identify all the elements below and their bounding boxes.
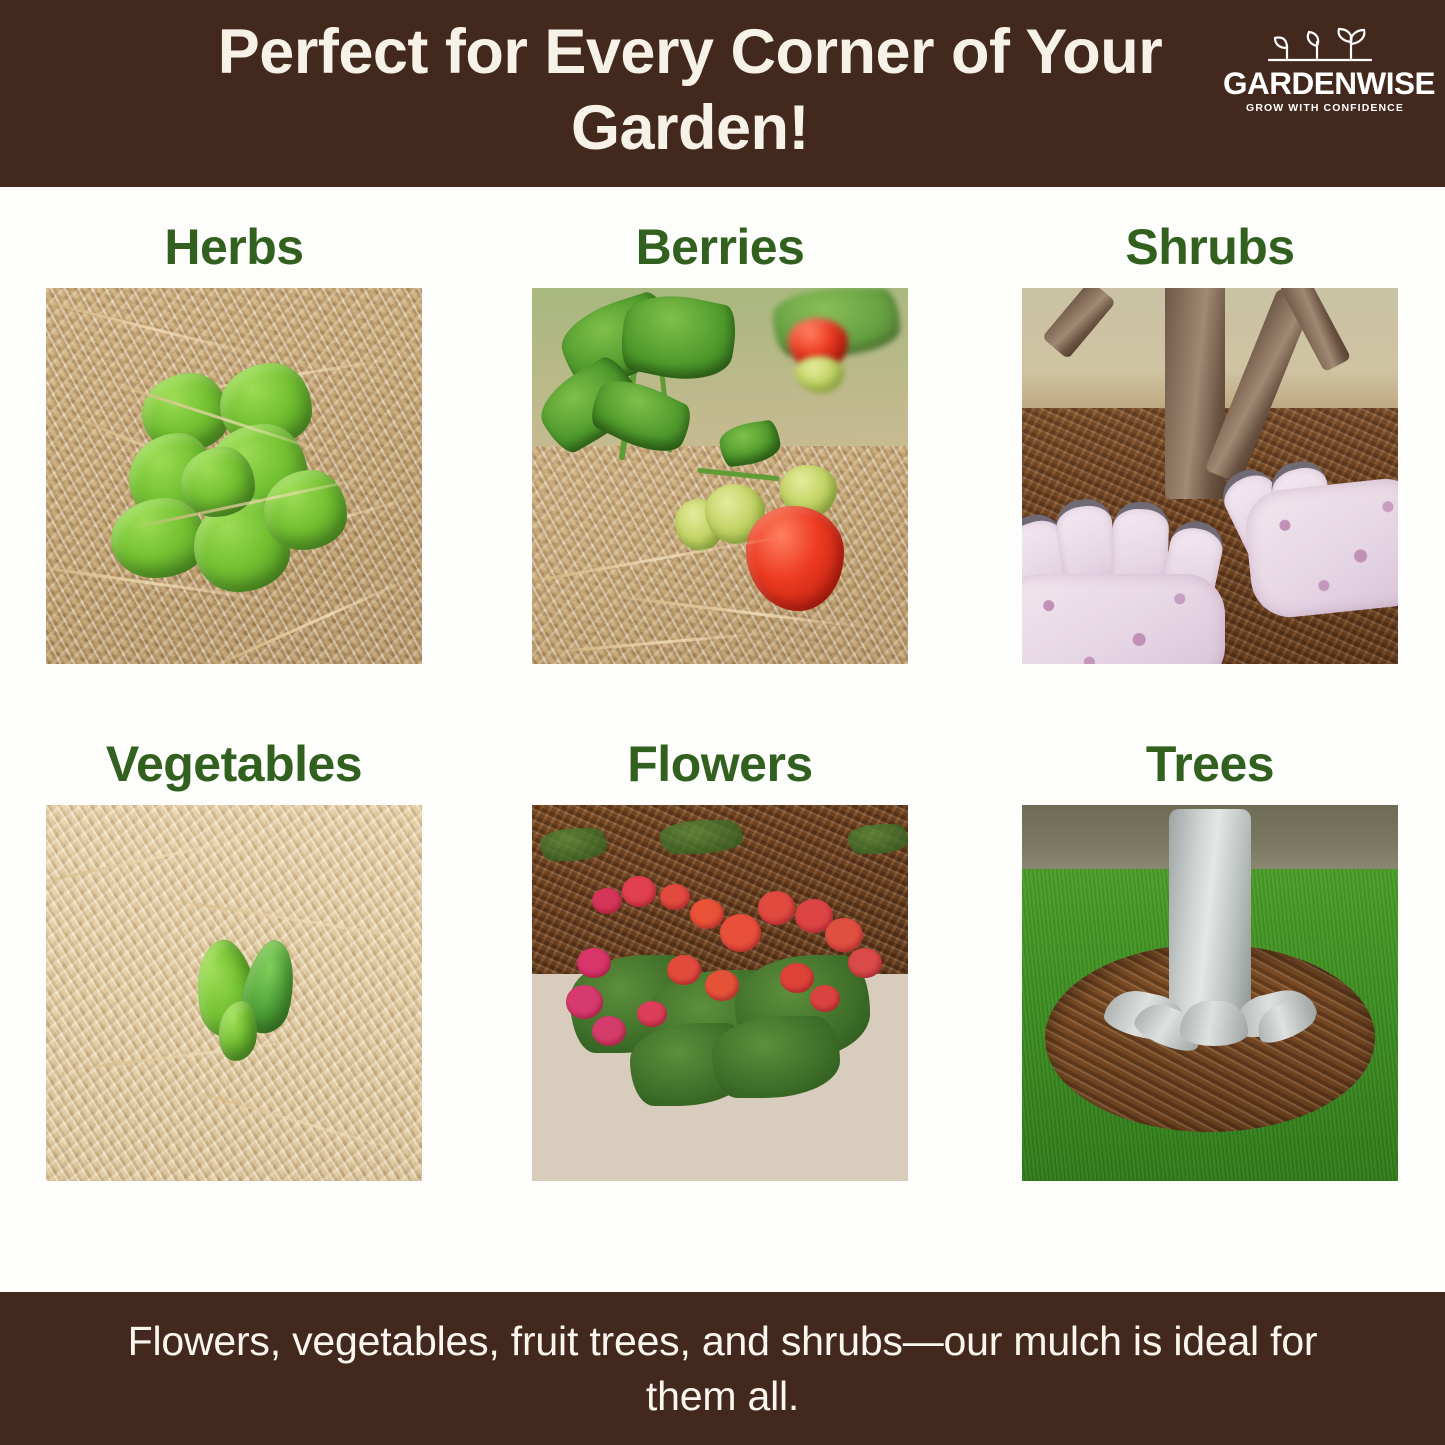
category-cell-herbs: Herbs xyxy=(46,219,422,664)
category-grid: Herbs xyxy=(0,187,1445,1292)
category-cell-vegetables: Vegetables xyxy=(46,736,422,1181)
three-leaf-sprout-icon xyxy=(1223,22,1427,66)
mulch-ring-around-tree-trunk-photo xyxy=(1022,805,1398,1181)
category-label: Shrubs xyxy=(1022,219,1398,275)
category-label: Flowers xyxy=(532,736,908,792)
category-cell-trees: Trees xyxy=(1022,736,1398,1181)
category-label: Herbs xyxy=(46,219,422,275)
page-title: Perfect for Every Corner of Your Garden! xyxy=(120,14,1260,166)
category-cell-flowers: Flowers xyxy=(532,736,908,1181)
gloved-hands-mulching-shrub-base-photo xyxy=(1022,288,1398,664)
category-cell-berries: Berries xyxy=(532,219,908,664)
strawberry-plant-in-straw-mulch-photo xyxy=(532,288,908,664)
lettuce-in-pine-straw-mulch-photo xyxy=(46,288,422,664)
brand-tagline: GROW WITH CONFIDENCE xyxy=(1223,100,1427,116)
brand-logo: GARDENWISE GROW WITH CONFIDENCE xyxy=(1223,22,1427,127)
promo-graphic: Perfect for Every Corner of Your Garden!… xyxy=(0,0,1445,1445)
footer-caption: Flowers, vegetables, fruit trees, and sh… xyxy=(100,1314,1345,1424)
header-banner: Perfect for Every Corner of Your Garden!… xyxy=(0,0,1445,187)
footer-banner: Flowers, vegetables, fruit trees, and sh… xyxy=(0,1292,1445,1445)
category-label: Trees xyxy=(1022,736,1398,792)
category-label: Vegetables xyxy=(46,736,422,792)
category-label: Berries xyxy=(532,219,908,275)
category-cell-shrubs: Shrubs xyxy=(1022,219,1398,664)
brand-wordmark: GARDENWISE xyxy=(1223,66,1427,100)
rose-bed-with-brown-mulch-photo xyxy=(532,805,908,1181)
seedling-sprouting-through-straw-mulch-photo xyxy=(46,805,422,1181)
